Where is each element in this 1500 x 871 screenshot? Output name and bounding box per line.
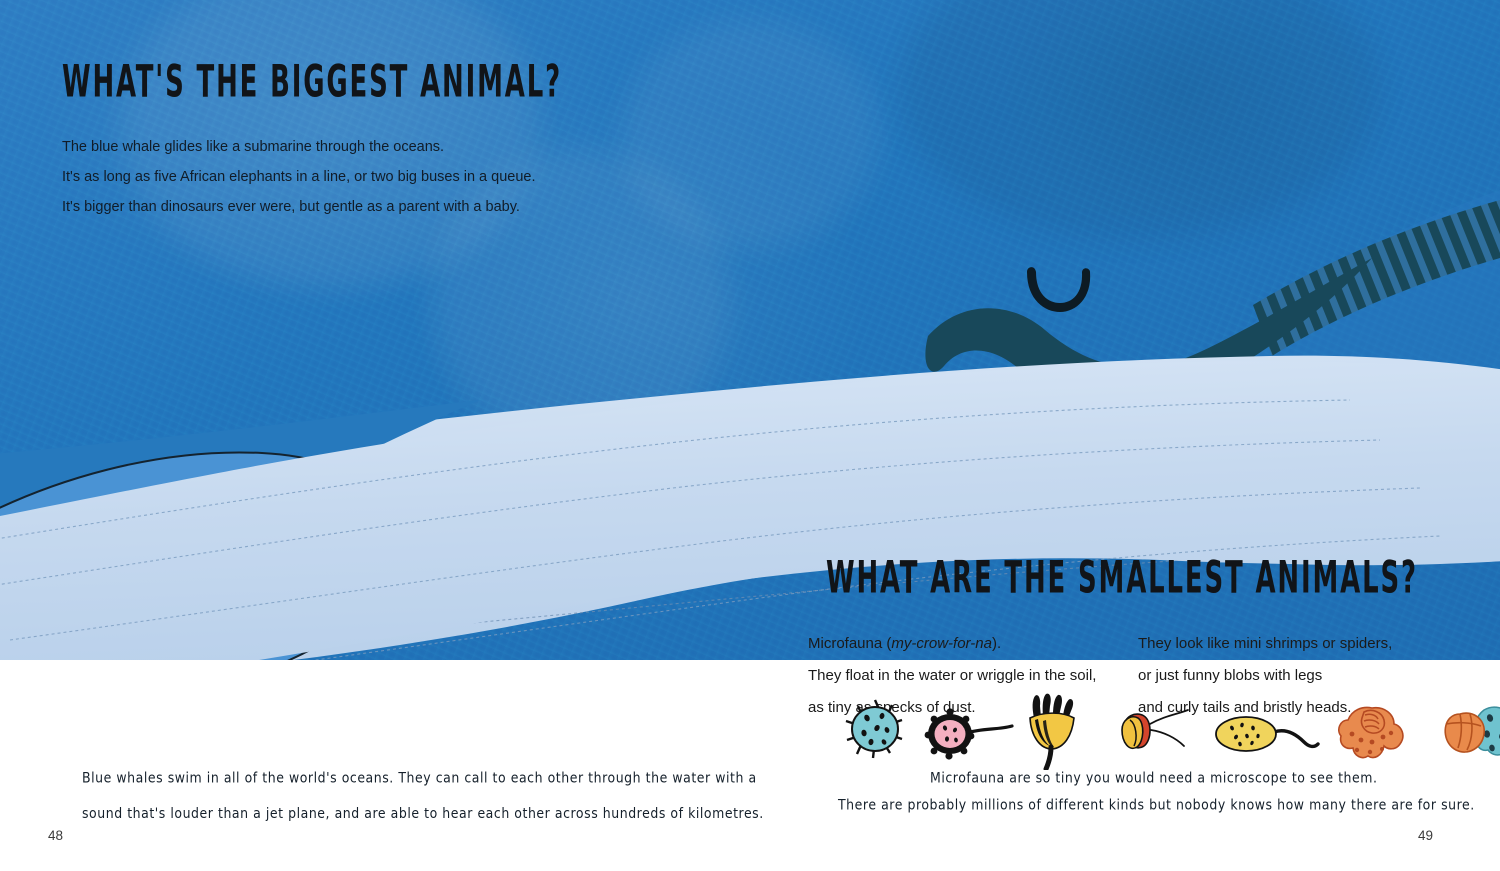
intro-paragraph-left: The blue whale glides like a submarine t… <box>62 132 536 222</box>
microfauna-word: Microfauna ( <box>808 635 891 652</box>
caption-line: sound that's louder than a jet plane, an… <box>82 796 764 832</box>
yellow-tadpole-blob-icon <box>1212 710 1322 762</box>
page-number-right: 49 <box>1418 828 1433 843</box>
pink-tailed-blob-icon <box>924 706 1020 762</box>
intro-line: The blue whale glides like a submarine t… <box>62 132 536 162</box>
page-number-left: 48 <box>48 828 63 843</box>
page-title-right: WHAT ARE THE SMALLEST ANIMALS? <box>826 552 1418 604</box>
microfauna-suffix: ). <box>992 635 1001 652</box>
book-spread: WHAT'S THE BIGGEST ANIMAL? The blue whal… <box>0 0 1500 871</box>
microfauna-definition-line: Microfauna (my-crow-for-na). <box>808 628 1096 660</box>
spiky-teal-blob-icon <box>840 694 910 764</box>
ocean-texture-blotch <box>620 20 880 250</box>
orange-beetle-blob-icon <box>1114 708 1194 762</box>
intro-line: It's as long as five African elephants i… <box>62 162 536 192</box>
microfauna-line: They float in the water or wriggle in th… <box>808 660 1096 692</box>
orange-teal-cluster-blob-icon <box>1440 700 1500 766</box>
microfauna-illustration-row <box>840 694 1460 766</box>
yellow-trumpet-blob-icon <box>1016 692 1088 770</box>
caption-left: Blue whales swim in all of the world's o… <box>82 760 764 832</box>
page-title-left: WHAT'S THE BIGGEST ANIMAL? <box>62 56 562 108</box>
microfauna-pronunciation: my-crow-for-na <box>891 635 992 652</box>
ocean-texture-blotch <box>900 0 1380 240</box>
microfauna-line: They look like mini shrimps or spiders, <box>1138 628 1392 660</box>
orange-starfish-blob-icon <box>1334 702 1412 766</box>
caption-right-line-2: There are probably millions of different… <box>838 787 1475 823</box>
microfauna-line: or just funny blobs with legs <box>1138 660 1392 692</box>
caption-line: Blue whales swim in all of the world's o… <box>82 760 764 796</box>
intro-line: It's bigger than dinosaurs ever were, bu… <box>62 192 536 222</box>
